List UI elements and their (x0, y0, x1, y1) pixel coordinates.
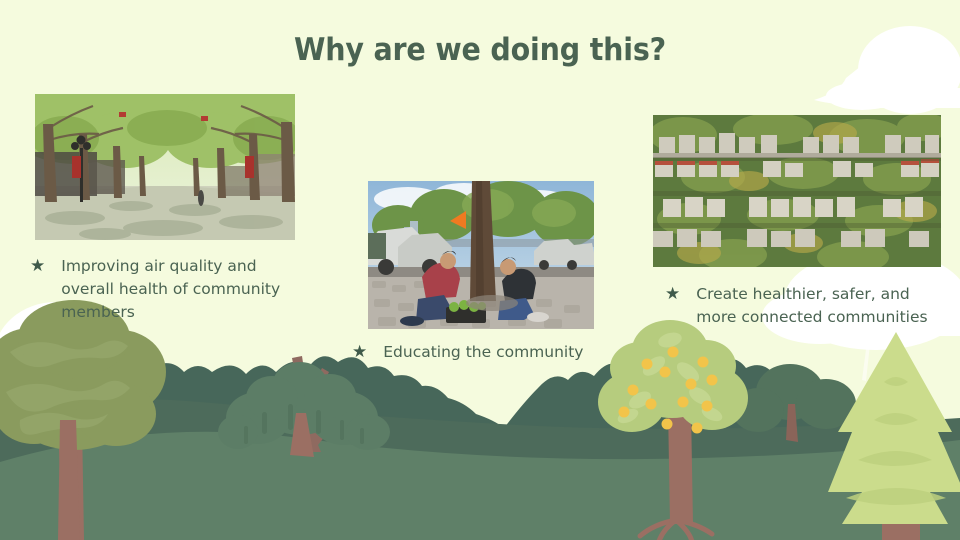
bullet-text: Educating the community (383, 341, 583, 364)
star-bullet-icon: ★ (352, 341, 367, 363)
star-bullet-icon: ★ (30, 255, 45, 277)
bullet-air-quality: ★ Improving air quality and overall heal… (30, 255, 305, 324)
hill-dark (0, 399, 960, 540)
bullet-text: Create healthier, safer, and more connec… (696, 283, 940, 329)
star-bullet-icon: ★ (665, 283, 680, 305)
photo-tree-lined-street (35, 94, 295, 240)
tree-cluster-right (732, 364, 856, 442)
hill-light (0, 432, 960, 540)
photo-community-planting (368, 181, 594, 329)
fruit-dots (619, 347, 718, 434)
bullet-text: Improving air quality and overall health… (61, 255, 305, 324)
bullet-educating: ★ Educating the community (352, 341, 602, 364)
slide-canvas: Why are we doing this? (0, 0, 960, 540)
tree-middle (218, 356, 390, 457)
treeline-silhouette (0, 353, 960, 540)
photo-aerial-rowhouses (653, 115, 941, 267)
bullet-communities: ★ Create healthier, safer, and more conn… (665, 283, 940, 329)
slide-title: Why are we doing this? (38, 32, 921, 68)
tree-olive-left (0, 300, 166, 540)
tree-pine (828, 332, 960, 540)
tree-fruit (598, 320, 748, 540)
